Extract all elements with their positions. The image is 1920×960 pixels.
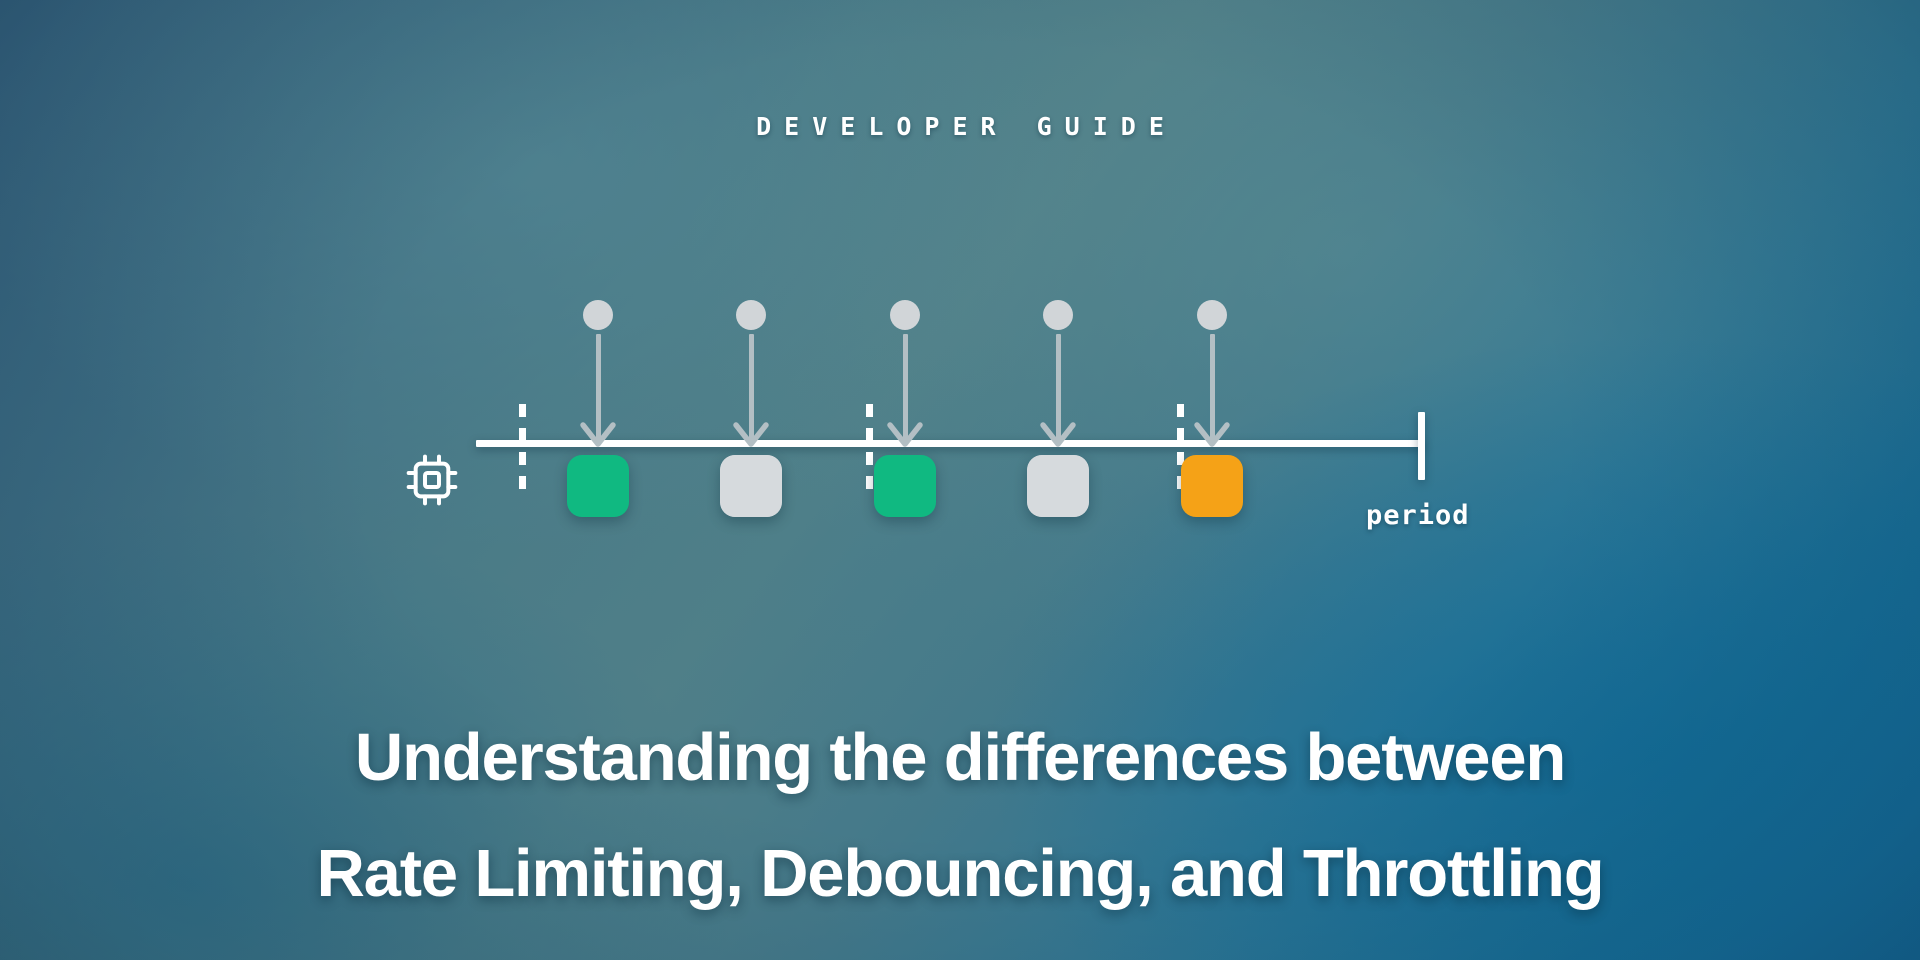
cpu-chip-icon bbox=[404, 452, 460, 508]
period-boundary-tick-1 bbox=[519, 404, 526, 500]
arrow-down-icon-2 bbox=[732, 420, 770, 450]
outcome-tile-blocked-2 bbox=[1027, 455, 1089, 517]
request-marker-2 bbox=[727, 300, 775, 450]
request-marker-1 bbox=[574, 300, 622, 450]
request-marker-4 bbox=[1034, 300, 1082, 450]
request-marker-5 bbox=[1188, 300, 1236, 450]
poster-canvas: DEVELOPER GUIDE bbox=[0, 0, 1920, 960]
request-dot-4 bbox=[1043, 300, 1073, 330]
page-title-line-2: Rate Limiting, Debouncing, and Throttlin… bbox=[0, 816, 1920, 932]
period-boundary-tick-2 bbox=[866, 404, 873, 500]
arrow-down-icon-4 bbox=[1039, 420, 1077, 450]
request-dot-3 bbox=[890, 300, 920, 330]
arrow-down-icon-1 bbox=[579, 420, 617, 450]
close-x-icon-2 bbox=[1027, 455, 1089, 517]
page-title: Understanding the differences between Ra… bbox=[0, 700, 1920, 932]
close-x-icon-1 bbox=[720, 455, 782, 517]
outcome-tile-queued-1 bbox=[1181, 455, 1243, 517]
request-dot-2 bbox=[736, 300, 766, 330]
request-dot-5 bbox=[1197, 300, 1227, 330]
page-title-line-1: Understanding the differences between bbox=[0, 700, 1920, 816]
request-marker-3 bbox=[881, 300, 929, 450]
outcome-tile-allowed-2 bbox=[874, 455, 936, 517]
arrow-down-icon-5 bbox=[1193, 420, 1231, 450]
timeline-end-marker bbox=[1418, 412, 1425, 480]
arrow-down-icon-3 bbox=[886, 420, 924, 450]
request-dot-1 bbox=[583, 300, 613, 330]
period-caption: period bbox=[1366, 500, 1470, 531]
outcome-tile-allowed-1 bbox=[567, 455, 629, 517]
outcome-tile-blocked-1 bbox=[720, 455, 782, 517]
